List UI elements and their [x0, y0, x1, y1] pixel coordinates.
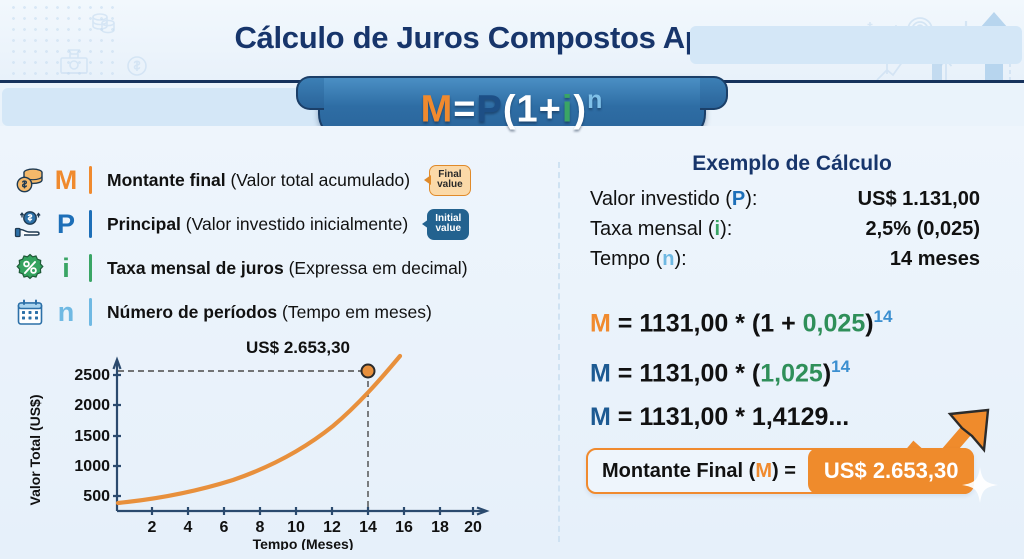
legend-item-P: P Principal (Valor investido inicialment… — [14, 202, 554, 246]
svg-text:6: 6 — [220, 519, 229, 536]
svg-text:12: 12 — [323, 519, 341, 536]
legend-symbol-i: i — [53, 253, 79, 284]
ribbon-tail-left — [2, 88, 334, 126]
step-highlight: 1,025 — [760, 359, 823, 387]
label-prefix: Taxa mensal ( — [590, 218, 715, 240]
example-value-time: 14 meses — [786, 248, 1012, 271]
legend-item-M: M Montante final (Valor total acumulado)… — [14, 158, 554, 202]
formula-open-paren: ( — [503, 88, 517, 130]
chart-marker-label: US$ 2.653,30 — [246, 338, 350, 357]
example-label-rate: Taxa mensal (i): — [590, 218, 786, 241]
label-suffix: ): — [745, 188, 757, 210]
step-body-pre: = 1131,00 * ( — [611, 359, 760, 387]
formula-plus: + — [539, 88, 562, 130]
step-body-pre: = 1131,00 * 1,4129... — [611, 403, 849, 431]
chart-ytick: 2500 — [74, 367, 110, 384]
step-exponent: 14 — [831, 357, 850, 376]
formula-equals: = — [453, 88, 476, 130]
compound-growth-chart: Valor Total (US$) 2500 2000 1500 1000 50… — [18, 338, 538, 550]
step-body-post: ) — [865, 309, 873, 337]
chart-xlabel: Tempo (Meses) — [253, 536, 354, 550]
chart-marker — [362, 365, 375, 378]
legend-text-i: Taxa mensal de juros (Expressa em decima… — [107, 258, 468, 279]
step-symbol-M: M — [590, 309, 611, 337]
svg-text:10: 10 — [287, 519, 305, 536]
symbol-P: P — [732, 188, 745, 210]
step-symbol-M: M — [590, 403, 611, 431]
svg-text:8: 8 — [256, 519, 265, 536]
step-body-post: ) — [823, 359, 831, 387]
legend-divider — [89, 254, 92, 282]
step-symbol-M: M — [590, 359, 611, 387]
svg-text:4: 4 — [184, 519, 193, 536]
formula-symbol-M: M — [421, 88, 454, 130]
chart-ytick: 500 — [83, 488, 110, 505]
legend-symbol-M: M — [53, 165, 79, 196]
badge-initial-line2: value — [435, 224, 461, 235]
legend-list: M Montante final (Valor total acumulado)… — [14, 158, 554, 334]
example-row-rate: Taxa mensal (i): 2,5% (0,025) — [572, 218, 1012, 248]
legend-desc-n: (Tempo em meses) — [282, 302, 432, 322]
legend-divider — [89, 210, 92, 238]
example-value-principal: US$ 1.131,00 — [786, 188, 1012, 211]
legend-divider — [89, 166, 92, 194]
example-title: Exemplo de Cálculo — [572, 152, 1012, 176]
result-area: Montante Final (M) = US$ 2.653,30 — [586, 448, 986, 494]
result-box: Montante Final (M) = US$ 2.653,30 — [586, 448, 974, 494]
chart-ylabel: Valor Total (US$) — [27, 395, 43, 506]
svg-text:2: 2 — [148, 519, 157, 536]
badge-final-line2: value — [437, 180, 463, 191]
column-divider — [558, 162, 560, 542]
legend-desc-i: (Expressa em decimal) — [289, 258, 468, 278]
svg-text:14: 14 — [359, 519, 377, 536]
coins-stack-icon — [14, 165, 46, 195]
hand-with-coin-icon — [14, 209, 46, 239]
result-symbol-M: M — [755, 460, 772, 482]
example-label-time: Tempo (n): — [590, 248, 786, 271]
step-highlight: 0,025 — [803, 309, 866, 337]
formula-symbol-i: i — [562, 88, 574, 130]
label-suffix: ): — [674, 248, 686, 270]
legend-term-P: Principal — [107, 214, 181, 234]
compound-interest-formula: M=P(1+i)n — [421, 88, 604, 129]
formula-one: 1 — [517, 88, 539, 130]
svg-text:20: 20 — [464, 519, 482, 536]
step-body-pre: = 1131,00 * (1 + — [611, 309, 803, 337]
formula-exponent-n: n — [587, 86, 603, 114]
example-value-rate: 2,5% (0,025) — [786, 218, 1012, 241]
example-row-time: Tempo (n): 14 meses — [572, 248, 1012, 278]
dollar-coin-icon — [124, 53, 150, 79]
formula-close-paren: ) — [573, 88, 587, 130]
chart-ytick: 1500 — [74, 428, 110, 445]
badge-initial-value: Initial value — [427, 209, 469, 240]
example-panel: Exemplo de Cálculo Valor investido (P): … — [572, 152, 1012, 494]
chart-ytick: 2000 — [74, 397, 110, 414]
label-prefix: Valor investido ( — [590, 188, 732, 210]
legend-item-n: n Número de períodos (Tempo em meses) — [14, 290, 554, 334]
formula-symbol-P: P — [477, 88, 503, 130]
legend-symbol-P: P — [53, 209, 79, 240]
example-row-principal: Valor investido (P): US$ 1.131,00 — [572, 188, 1012, 218]
chart-line — [118, 356, 400, 503]
sparkle-icon — [960, 465, 1000, 510]
chart-axes — [113, 360, 487, 516]
legend-term-M: Montante final — [107, 170, 226, 190]
result-label: Montante Final (M) = — [602, 460, 808, 483]
chart-xticks: 246 81012 141618 20 — [148, 519, 482, 536]
legend-desc-M: (Valor total acumulado) — [230, 170, 410, 190]
legend-text-M: Montante final (Valor total acumulado) — [107, 170, 410, 191]
ribbon-tail-right — [690, 26, 1022, 64]
calendar-icon — [14, 297, 46, 327]
badge-final-value: Final value — [429, 165, 471, 196]
content-area: M Montante final (Valor total acumulado)… — [0, 126, 1024, 559]
svg-text:16: 16 — [395, 519, 413, 536]
legend-desc-P: (Valor investido inicialmente) — [186, 214, 408, 234]
legend-text-n: Número de períodos (Tempo em meses) — [107, 302, 432, 323]
legend-text-P: Principal (Valor investido inicialmente) — [107, 214, 408, 235]
symbol-n: n — [662, 248, 674, 270]
chart-guide-lines — [118, 371, 368, 511]
legend-term-i: Taxa mensal de juros — [107, 258, 284, 278]
chart-ytick: 1000 — [74, 458, 110, 475]
calc-step-1: M = 1131,00 * (1 + 0,025)14 — [590, 292, 1012, 342]
example-label-principal: Valor investido (P): — [590, 188, 786, 211]
result-label-pre: Montante Final ( — [602, 460, 755, 482]
calc-step-2: M = 1131,00 * (1,025)14 — [590, 342, 1012, 392]
legend-symbol-n: n — [53, 297, 79, 328]
percent-badge-icon — [14, 253, 46, 283]
legend-term-n: Número de períodos — [107, 302, 277, 322]
step-exponent: 14 — [874, 307, 893, 326]
label-suffix: ): — [720, 218, 732, 240]
legend-item-i: i Taxa mensal de juros (Expressa em deci… — [14, 246, 554, 290]
result-label-post: ) = — [772, 460, 796, 482]
svg-text:18: 18 — [431, 519, 449, 536]
label-prefix: Tempo ( — [590, 248, 662, 270]
result-value: US$ 2.653,30 — [808, 448, 975, 494]
legend-divider — [89, 298, 92, 326]
